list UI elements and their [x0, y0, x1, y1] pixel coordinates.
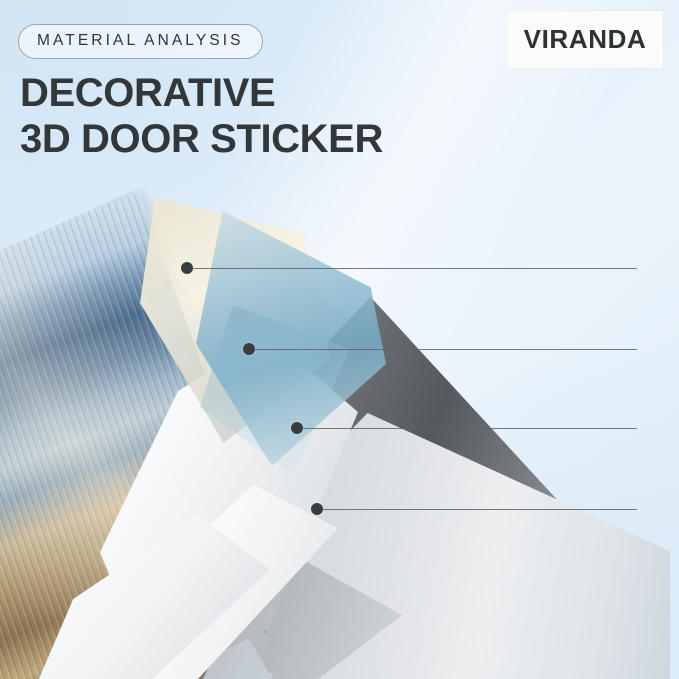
infographic-canvas: MATERIAL ANALYSIS DECORATIVE 3D DOOR STI…: [0, 0, 679, 679]
callout-leader-4: [322, 509, 637, 510]
brand-name: VIRANDA: [524, 24, 647, 55]
brand-logo: VIRANDA: [507, 11, 663, 68]
page-title: DECORATIVE 3D DOOR STICKER: [20, 70, 383, 163]
callout-leader-2: [254, 349, 637, 350]
product-illustration: [0, 185, 679, 679]
title-line-1: DECORATIVE: [20, 71, 275, 115]
callout-leader-3: [302, 428, 637, 429]
title-line-2: 3D DOOR STICKER: [20, 116, 383, 162]
callout-leader-1: [192, 268, 637, 269]
category-badge: MATERIAL ANALYSIS: [18, 24, 263, 59]
